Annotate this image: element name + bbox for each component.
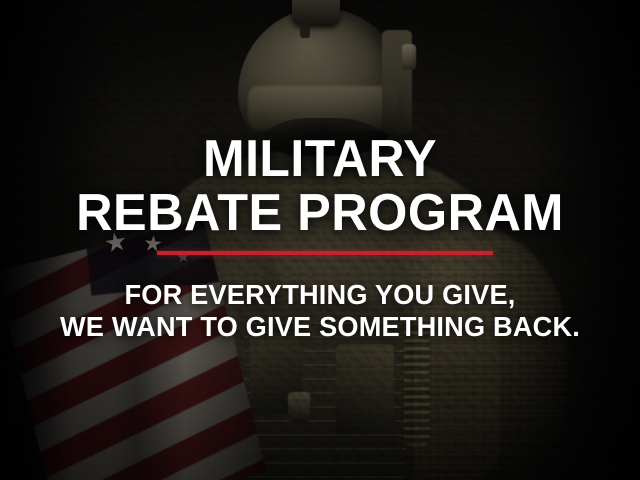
red-divider-rule: [157, 251, 493, 255]
headline-line-1: MILITARY: [13, 133, 627, 185]
subheadline-line-2: WE WANT TO GIVE SOMETHING BACK.: [10, 313, 631, 341]
subheadline-line-1: FOR EVERYTHING YOU GIVE,: [10, 281, 631, 309]
headline-line-2: REBATE PROGRAM: [10, 187, 631, 239]
military-rebate-program-banner: ★ ★ ★ MILITARY REBATE PROGRAM FOR EVERYT…: [0, 0, 640, 480]
text-overlay: MILITARY REBATE PROGRAM FOR EVERYTHING Y…: [0, 0, 640, 480]
